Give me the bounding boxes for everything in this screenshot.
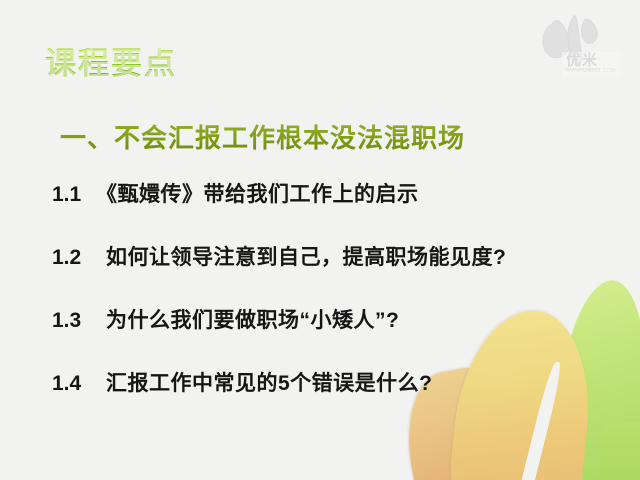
list-item: 1.2 如何让领导注意到自己，提高职场能见度? [52,247,620,310]
slide-content: 课程要点 一、不会汇报工作根本没法混职场 1.1 《甄嬛传》带给我们工作上的启示… [0,0,640,480]
list-item-text: 《甄嬛传》带给我们工作上的启示 [96,184,419,205]
list-item: 1.1 《甄嬛传》带给我们工作上的启示 [52,184,620,247]
list-item-text: 为什么我们要做职场“小矮人”? [106,310,399,331]
list-item: 1.4 汇报工作中常见的5个错误是什么? [52,373,620,436]
list-item-text: 汇报工作中常见的5个错误是什么? [106,373,433,394]
outline-list: 1.1 《甄嬛传》带给我们工作上的启示 1.2 如何让领导注意到自己，提高职场能… [52,184,620,436]
page-title: 课程要点 [45,48,177,79]
list-item-number: 1.3 [52,310,86,331]
section-heading: 一、不会汇报工作根本没法混职场 [60,124,465,153]
list-item-text: 如何让领导注意到自己，提高职场能见度? [106,247,506,268]
list-item: 1.3 为什么我们要做职场“小矮人”? [52,310,620,373]
presentation-slide: 优米 WWW.UMIWI.COM 课程要点 一、不会汇报工作根本没法混职场 1.… [0,0,640,480]
list-item-number: 1.2 [52,247,86,268]
list-item-number: 1.1 [52,184,86,205]
list-item-number: 1.4 [52,373,86,394]
